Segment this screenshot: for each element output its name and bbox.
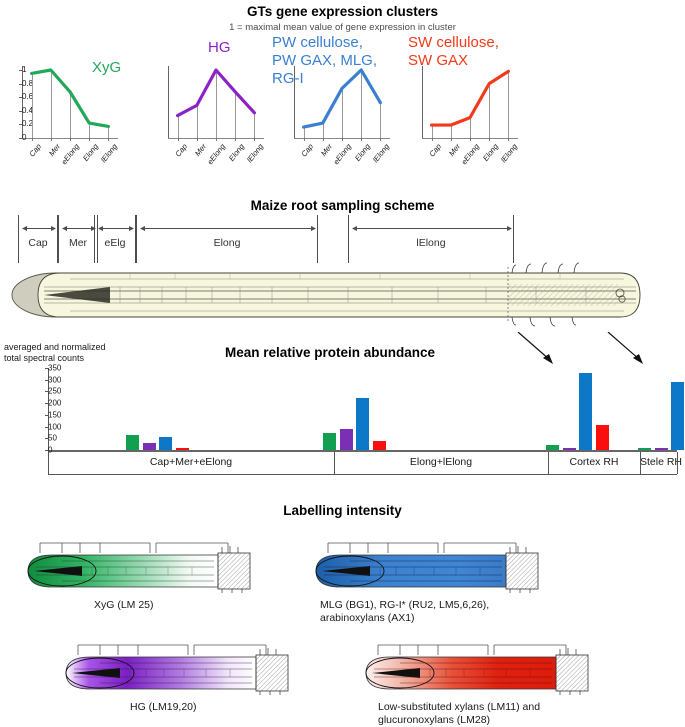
arrow-eelg bbox=[98, 224, 134, 233]
line-chart-xtick-label: eElong bbox=[205, 142, 227, 166]
bar-chart-group-label: Cap+Mer+eElong bbox=[48, 456, 334, 468]
line-chart-xtick-mark bbox=[178, 138, 179, 141]
bar-chart-ytick-mark bbox=[45, 391, 49, 392]
bar bbox=[340, 429, 353, 450]
caption-hg-line1: HG (LM19,20) bbox=[130, 701, 197, 714]
root-shape-mlg bbox=[310, 541, 560, 593]
bar-chart-ytick-mark bbox=[45, 438, 49, 439]
bar bbox=[143, 443, 156, 450]
bar bbox=[126, 435, 139, 450]
bar-chart-group-separator bbox=[334, 452, 335, 474]
panel-c-title: Mean relative protein abundance bbox=[130, 345, 530, 360]
cluster-label-pw-line1: PW cellulose, bbox=[272, 34, 377, 52]
caption-xyg-line1: XyG (LM 25) bbox=[94, 599, 154, 612]
bar bbox=[159, 437, 172, 450]
labelling-root-hg: HG (LM19,20) bbox=[60, 643, 310, 700]
line-chart-xtick-label: eElong bbox=[59, 142, 81, 166]
line-chart-xtick-label: eElong bbox=[459, 142, 481, 166]
line-chart-xtick-label: Elong bbox=[353, 142, 372, 163]
arrow-cap bbox=[22, 224, 56, 233]
line-chart-xtick-mark bbox=[304, 138, 305, 141]
panel-c-ylabel-line2: total spectral counts bbox=[4, 353, 106, 364]
bar-chart-group-underline bbox=[640, 474, 677, 475]
line-chart-xtick-mark bbox=[235, 138, 236, 141]
line-chart-series bbox=[22, 66, 118, 138]
caption-mlg-line1: MLG (BG1), RG-I* (RU2, LM5,6,26), bbox=[320, 599, 489, 612]
figure-root: GTs gene expression clusters 1 = maximal… bbox=[0, 0, 685, 691]
line-chart-series bbox=[168, 66, 264, 138]
root-hair-zone bbox=[508, 284, 618, 306]
bar-chart-group-label: Elong+lElong bbox=[334, 456, 548, 468]
line-chart-xtick-label: eElong bbox=[331, 142, 353, 166]
root-shape-hg bbox=[60, 643, 310, 695]
root-shape-xylans bbox=[360, 643, 610, 695]
panel-c-ylabel: averaged and normalized total spectral c… bbox=[4, 342, 106, 364]
segment-label-eelg: eElg bbox=[95, 237, 135, 249]
segment-lelong: lElong bbox=[348, 215, 514, 263]
line-chart-xtick-label: lElong bbox=[371, 142, 391, 164]
bar bbox=[655, 448, 668, 450]
root-shape-xyg bbox=[22, 541, 272, 593]
panel-gene-expression-clusters: GTs gene expression clusters 1 = maximal… bbox=[0, 0, 685, 180]
labelling-root-mlg: MLG (BG1), RG-I* (RU2, LM5,6,26), arabin… bbox=[310, 541, 560, 598]
line-chart-xtick-mark bbox=[361, 138, 362, 141]
panel-labelling-intensity: Labelling intensity bbox=[0, 495, 685, 691]
bar bbox=[596, 425, 609, 450]
line-chart-hg: CapMereElongElonglElong bbox=[146, 66, 264, 146]
caption-mlg-line2: arabinoxylans (AX1) bbox=[320, 612, 489, 625]
panel-root-sampling-scheme: Maize root sampling scheme Cap Mer eElg bbox=[0, 195, 685, 340]
line-chart-xtick-mark bbox=[489, 138, 490, 141]
caption-hg: HG (LM19,20) bbox=[130, 701, 197, 714]
bar-chart-ytick-mark bbox=[45, 368, 49, 369]
line-chart-xtick-label: lElong bbox=[99, 142, 119, 164]
bar bbox=[323, 433, 336, 450]
line-chart-xtick-label: Elong bbox=[481, 142, 500, 163]
line-chart-sw: CapMereElongElonglElong bbox=[400, 66, 518, 146]
bar bbox=[671, 382, 684, 450]
line-chart-series bbox=[422, 66, 518, 138]
line-chart-xtick-mark bbox=[108, 138, 109, 141]
cluster-label-sw-line1: SW cellulose, bbox=[408, 34, 499, 52]
line-chart-xtick-mark bbox=[323, 138, 324, 141]
line-chart-xtick-mark bbox=[32, 138, 33, 141]
segment-label-cap: Cap bbox=[19, 237, 57, 249]
caption-xyg: XyG (LM 25) bbox=[94, 599, 154, 612]
line-chart-xtick-mark bbox=[432, 138, 433, 141]
caption-xylans-line2: glucuronoxylans (LM28) bbox=[378, 714, 540, 727]
bar-chart-ytick-mark bbox=[45, 427, 49, 428]
panel-d-title: Labelling intensity bbox=[0, 503, 685, 518]
line-chart-xtick-mark bbox=[508, 138, 509, 141]
segment-cap: Cap bbox=[18, 215, 58, 263]
line-chart-xtick-label: Cap bbox=[427, 142, 443, 159]
segment-label-mer: Mer bbox=[59, 237, 97, 249]
caption-mlg: MLG (BG1), RG-I* (RU2, LM5,6,26), arabin… bbox=[320, 599, 489, 625]
line-chart-pw: CapMereElongElonglElong bbox=[272, 66, 390, 146]
line-chart-xtick-mark bbox=[451, 138, 452, 141]
bar bbox=[546, 445, 559, 450]
cluster-label-sw: SW cellulose, SW GAX bbox=[408, 34, 499, 70]
panel-c-ylabel-line1: averaged and normalized bbox=[4, 342, 106, 353]
line-chart-xtick-mark bbox=[254, 138, 255, 141]
line-chart-xtick-label: Mer bbox=[193, 142, 208, 158]
segment-label-lelong: lElong bbox=[349, 237, 513, 249]
bar-chart-group-separator bbox=[677, 452, 678, 474]
line-chart-xtick-label: Cap bbox=[173, 142, 189, 159]
bar-chart-ytick-mark bbox=[45, 450, 49, 451]
bar-chart-group-underline bbox=[334, 474, 548, 475]
bar-chart-ytick-mark bbox=[45, 380, 49, 381]
line-chart-xtick-label: lElong bbox=[499, 142, 519, 164]
line-chart-xtick-mark bbox=[216, 138, 217, 141]
segment-eelg: eElg bbox=[94, 215, 136, 263]
bar bbox=[638, 448, 651, 450]
panel-a-title: GTs gene expression clusters bbox=[0, 4, 685, 19]
bar bbox=[563, 448, 576, 450]
bar-chart-ytick-mark bbox=[45, 403, 49, 404]
line-chart-ytick-mark bbox=[19, 138, 22, 139]
line-chart-xtick-label: Cap bbox=[27, 142, 43, 159]
line-chart-xtick-label: Mer bbox=[319, 142, 334, 158]
line-chart-series bbox=[294, 66, 390, 138]
segment-elong: Elong bbox=[136, 215, 318, 263]
bar-chart-group-separator bbox=[640, 452, 641, 474]
line-chart-xtick-mark bbox=[51, 138, 52, 141]
bar bbox=[176, 448, 189, 450]
bar-chart-group-underline bbox=[48, 474, 334, 475]
segment-label-elong: Elong bbox=[137, 237, 317, 249]
line-chart-xyg: 00.20.40.60.81CapMereElongElonglElong bbox=[0, 66, 118, 146]
labelling-root-xylans: Low-substituted xylans (LM11) and glucur… bbox=[360, 643, 610, 700]
line-chart-xtick-label: Cap bbox=[299, 142, 315, 159]
panel-a-subtitle: 1 = maximal mean value of gene expressio… bbox=[0, 22, 685, 33]
caption-xylans-line1: Low-substituted xylans (LM11) and bbox=[378, 701, 540, 714]
segment-mer: Mer bbox=[58, 215, 98, 263]
line-chart-xtick-label: Elong bbox=[227, 142, 246, 163]
line-chart-xtick-mark bbox=[470, 138, 471, 141]
line-chart-xtick-mark bbox=[342, 138, 343, 141]
labelling-root-xyg: XyG (LM 25) bbox=[22, 541, 272, 598]
line-chart-xtick-label: Elong bbox=[81, 142, 100, 163]
cluster-label-hg: HG bbox=[208, 40, 231, 55]
root-diagram bbox=[0, 257, 685, 337]
bar-chart-group-separator bbox=[48, 452, 49, 474]
arrow-lelong bbox=[352, 224, 512, 233]
bar-chart-ytick-mark bbox=[45, 415, 49, 416]
caption-xylans: Low-substituted xylans (LM11) and glucur… bbox=[378, 701, 540, 727]
bar bbox=[579, 373, 592, 450]
bar bbox=[356, 398, 369, 450]
arrow-elong bbox=[140, 224, 316, 233]
bar-chart-group-label: Cortex RH bbox=[548, 456, 640, 468]
line-chart-xtick-mark bbox=[197, 138, 198, 141]
bar-chart-plot-area bbox=[48, 368, 677, 450]
bar-chart-group-label: Stele RH bbox=[640, 456, 677, 468]
line-chart-xtick-label: lElong bbox=[245, 142, 265, 164]
bar-chart-group-underline bbox=[548, 474, 640, 475]
cluster-label-hg-line1: HG bbox=[208, 39, 231, 56]
pointer-arrow-stele bbox=[600, 332, 685, 366]
line-chart-xtick-label: Mer bbox=[447, 142, 462, 158]
bar-chart-x-axis bbox=[48, 450, 677, 452]
line-chart-xtick-label: Mer bbox=[47, 142, 62, 158]
bar bbox=[373, 441, 386, 450]
arrow-mer bbox=[62, 224, 96, 233]
panel-b-title: Maize root sampling scheme bbox=[0, 198, 685, 213]
line-chart-xtick-mark bbox=[89, 138, 90, 141]
line-chart-xtick-mark bbox=[380, 138, 381, 141]
panel-protein-abundance: averaged and normalized total spectral c… bbox=[0, 340, 685, 490]
bar-chart-group-separator bbox=[548, 452, 549, 474]
line-chart-xtick-mark bbox=[70, 138, 71, 141]
